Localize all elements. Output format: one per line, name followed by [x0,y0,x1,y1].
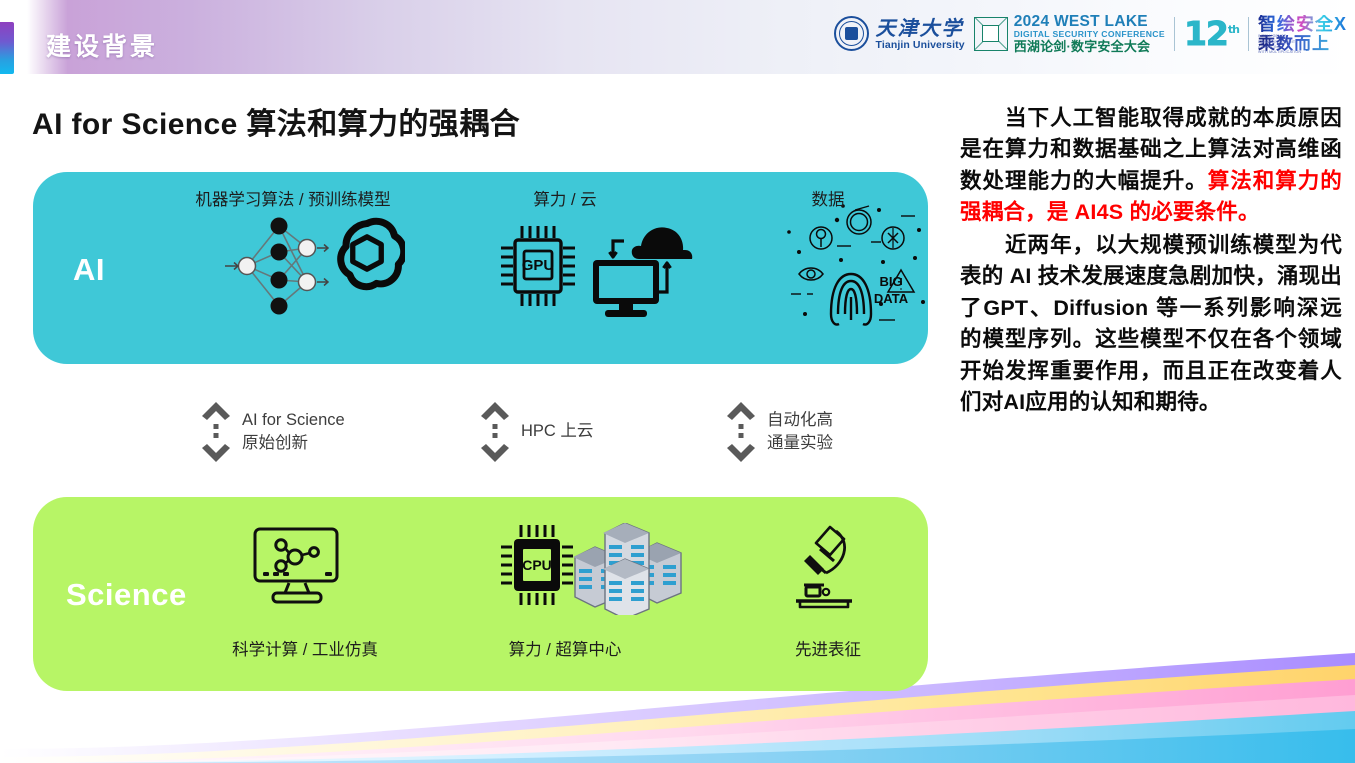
linkage-arrow-row: AI for Science 原始创新 HPC 上云 [33,398,928,470]
big-data-label-top: BIG [879,274,902,289]
theme-subtext: INTELLIGENCEENHANCE SECURITYADVANCINGWIT… [1258,34,1301,56]
description-text: 当下人工智能取得成就的本质原因是在算力和数据基础之上算法对高维函数处理能力的大幅… [960,103,1342,420]
page-title: 建设背景 [46,27,158,67]
arrow-label-ai4s: AI for Science 原始创新 [242,409,345,456]
university-seal-icon [834,16,869,51]
tianjin-university-logo: 天津大学 Tianjin University [834,16,965,51]
double-arrow-vertical-icon [201,402,231,462]
big-data-fingerprint-icon: BIG DATA [783,202,933,330]
arrow-label-line2: 原始创新 [242,432,345,455]
svg-text:GPU: GPU [522,257,555,274]
tju-wordmark: 天津大学 Tianjin University [876,18,965,51]
science-label-supercomputing: 算力 / 超算中心 [509,636,622,660]
double-arrow-vertical-icon [480,402,510,462]
conference-theme-logo: 智绘安全X 乘数而上 INTELLIGENCEENHANCE SECURITYA… [1258,15,1347,52]
logo-divider-1 [1174,17,1175,51]
paragraph-2: 近两年，以大规模预训练模型为代表的 AI 技术发展速度急剧加快，涌现出了GPT、… [960,230,1342,419]
seal-inner [982,25,999,42]
arrow-label-automation: 自动化高 通量实验 [767,409,833,456]
west-lake-line2: DIGITAL SECURITY CONFERENCE [1014,30,1165,39]
edition-ordinal: th [1228,23,1239,36]
theme-row1: 智绘安全X [1258,15,1347,33]
slide-canvas: 建设背景 天津大学 Tianjin University 2024 WEST L… [0,0,1355,763]
logo-group: 天津大学 Tianjin University 2024 WEST LAKE D… [834,14,1347,54]
double-arrow-vertical-icon [726,402,756,462]
edition-value: 12 [1184,14,1228,53]
big-data-label-bottom: DATA [874,291,909,306]
tju-name-cn: 天津大学 [876,18,965,38]
neural-network-icon [221,210,329,322]
arrow-group-hpc: HPC 上云 [480,402,593,462]
west-lake-wordmark: 2024 WEST LAKE DIGITAL SECURITY CONFEREN… [1014,14,1165,54]
ai-panel-label: AI [73,252,105,288]
arrow-label-hpc: HPC 上云 [521,420,593,443]
science-label-characterization: 先进表征 [795,636,861,660]
science-panel-label: Science [66,577,187,613]
edition-number: 12th [1184,17,1239,50]
ai-label-data: 数据 [812,186,845,210]
west-lake-conference-logo: 2024 WEST LAKE DIGITAL SECURITY CONFEREN… [974,14,1165,54]
logo-divider-2 [1248,17,1249,51]
west-lake-line3: 西湖论剑·数字安全大会 [1014,40,1165,54]
arrow-label-line1: AI for Science [242,409,345,432]
seal-core [845,27,858,40]
ai-top-labels: 机器学习算法 / 预训练模型 算力 / 云 数据 [33,186,928,212]
microscope-icon [790,521,862,613]
arrow-group-automation: 自动化高 通量实验 [726,402,833,462]
monitor-molecule-icon [251,525,347,609]
arrow-group-ai4s: AI for Science 原始创新 [201,402,345,462]
arrow-label-line1: 自动化高 [767,409,833,432]
gpu-chip-icon: GPU [499,220,577,312]
ai-label-compute-cloud: 算力 / 云 [533,186,596,210]
server-cluster-icon [571,523,693,615]
paragraph-1: 当下人工智能取得成就的本质原因是在算力和数据基础之上算法对高维函数处理能力的大幅… [960,103,1342,229]
header-accent-bar [0,22,14,74]
svg-text:CPU: CPU [522,557,552,573]
slide-heading: AI for Science 算法和算力的强耦合 [32,99,520,143]
tju-name-en: Tianjin University [876,40,965,51]
science-bottom-labels: 科学计算 / 工业仿真 算力 / 超算中心 先进表征 [33,636,928,662]
openai-logo-icon [329,214,405,292]
ai-label-algorithms: 机器学习算法 / 预训练模型 [195,186,390,210]
west-lake-line1: 2024 WEST LAKE [1014,14,1165,30]
cpu-chip-icon: CPU [499,519,575,611]
cloud-computing-icon [585,214,693,318]
arrow-label-line1: HPC 上云 [521,420,593,443]
arrow-label-line2: 通量实验 [767,432,833,455]
science-label-simulation: 科学计算 / 工业仿真 [232,636,378,660]
west-lake-seal-icon [974,17,1008,51]
